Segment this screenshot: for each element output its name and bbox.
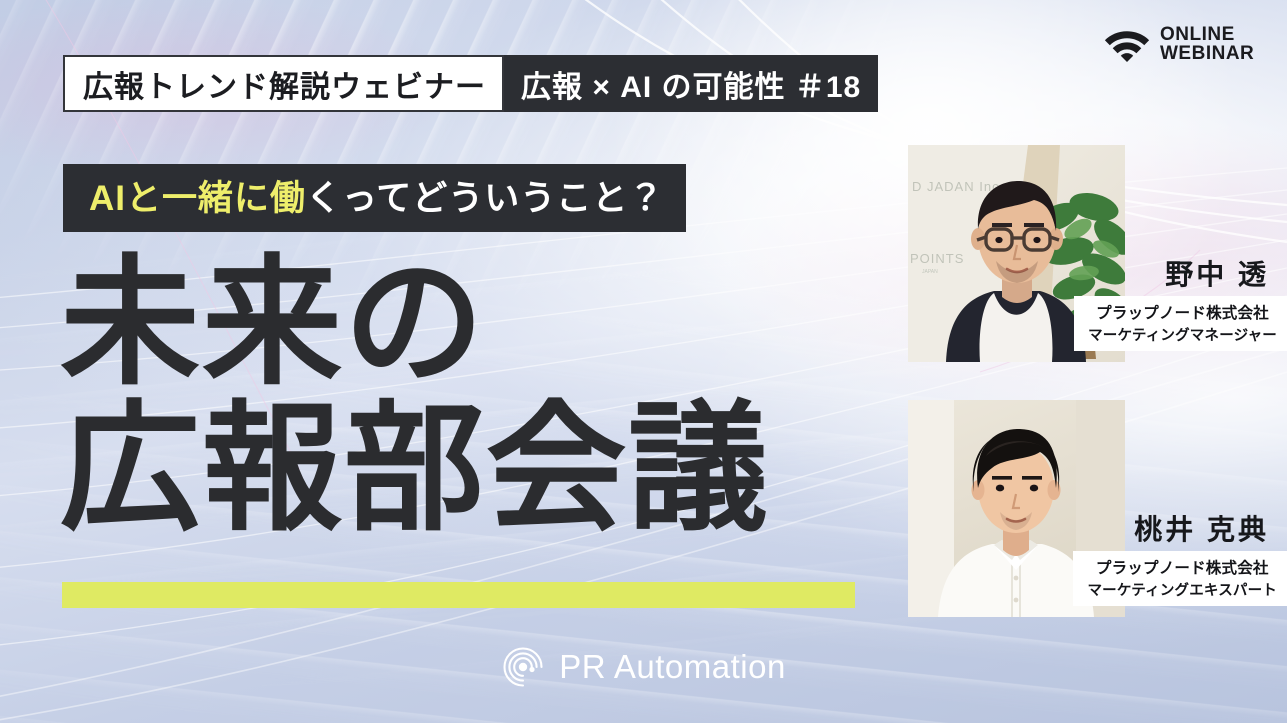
- spiral-logo-icon: [501, 645, 545, 689]
- online-webinar-badge: ONLINE WEBINAR: [1104, 26, 1254, 63]
- webinar-badge-line2: WEBINAR: [1160, 45, 1254, 64]
- webinar-badge-line1: ONLINE: [1160, 26, 1254, 45]
- wifi-icon: [1104, 28, 1150, 62]
- question-text: AIと一緒に働くってどういうこと？: [89, 181, 664, 216]
- speaker-2-name: 桃井 克典: [1134, 514, 1279, 545]
- speaker-2-company: プラップノード株式会社: [1087, 556, 1277, 578]
- series-title-row: 広報トレンド解説ウェビナー 広報 × AI の可能性 ＃18: [63, 55, 878, 112]
- webinar-banner: ONLINE WEBINAR 広報トレンド解説ウェビナー 広報 × AI の可能…: [0, 0, 1287, 723]
- headline-line-1: 未来の: [60, 255, 880, 391]
- headline-line-2: 広報部会議: [60, 401, 880, 537]
- footer-brand-name: PR Automation: [559, 648, 786, 686]
- series-episode-text: 広報 × AI の可能性 ＃18: [521, 62, 861, 106]
- webinar-badge-text: ONLINE WEBINAR: [1160, 26, 1254, 63]
- speaker-1-name: 野中 透: [1165, 259, 1279, 290]
- speaker-2-affiliation: プラップノード株式会社 マーケティングエキスパート: [1073, 551, 1287, 606]
- speaker-2-role: マーケティングエキスパート: [1087, 579, 1277, 600]
- question-rest: くってどういうこと？: [306, 179, 664, 218]
- series-name-box: 広報トレンド解説ウェビナー: [63, 55, 504, 112]
- question-band: AIと一緒に働くってどういうこと？: [63, 164, 686, 232]
- speaker-1-affiliation: プラップノード株式会社 マーケティングマネージャー: [1074, 296, 1287, 351]
- footer-brand-logo: PR Automation: [0, 645, 1287, 689]
- question-highlight: AIと一緒に働: [89, 179, 306, 218]
- headline-marker-bar: [62, 582, 855, 608]
- series-episode-box: 広報 × AI の可能性 ＃18: [504, 55, 878, 112]
- series-name-text: 広報トレンド解説ウェビナー: [83, 62, 486, 106]
- speaker-1-role: マーケティングマネージャー: [1088, 324, 1277, 345]
- speaker-1-company: プラップノード株式会社: [1088, 301, 1277, 323]
- main-headline: 未来の 広報部会議: [60, 255, 880, 537]
